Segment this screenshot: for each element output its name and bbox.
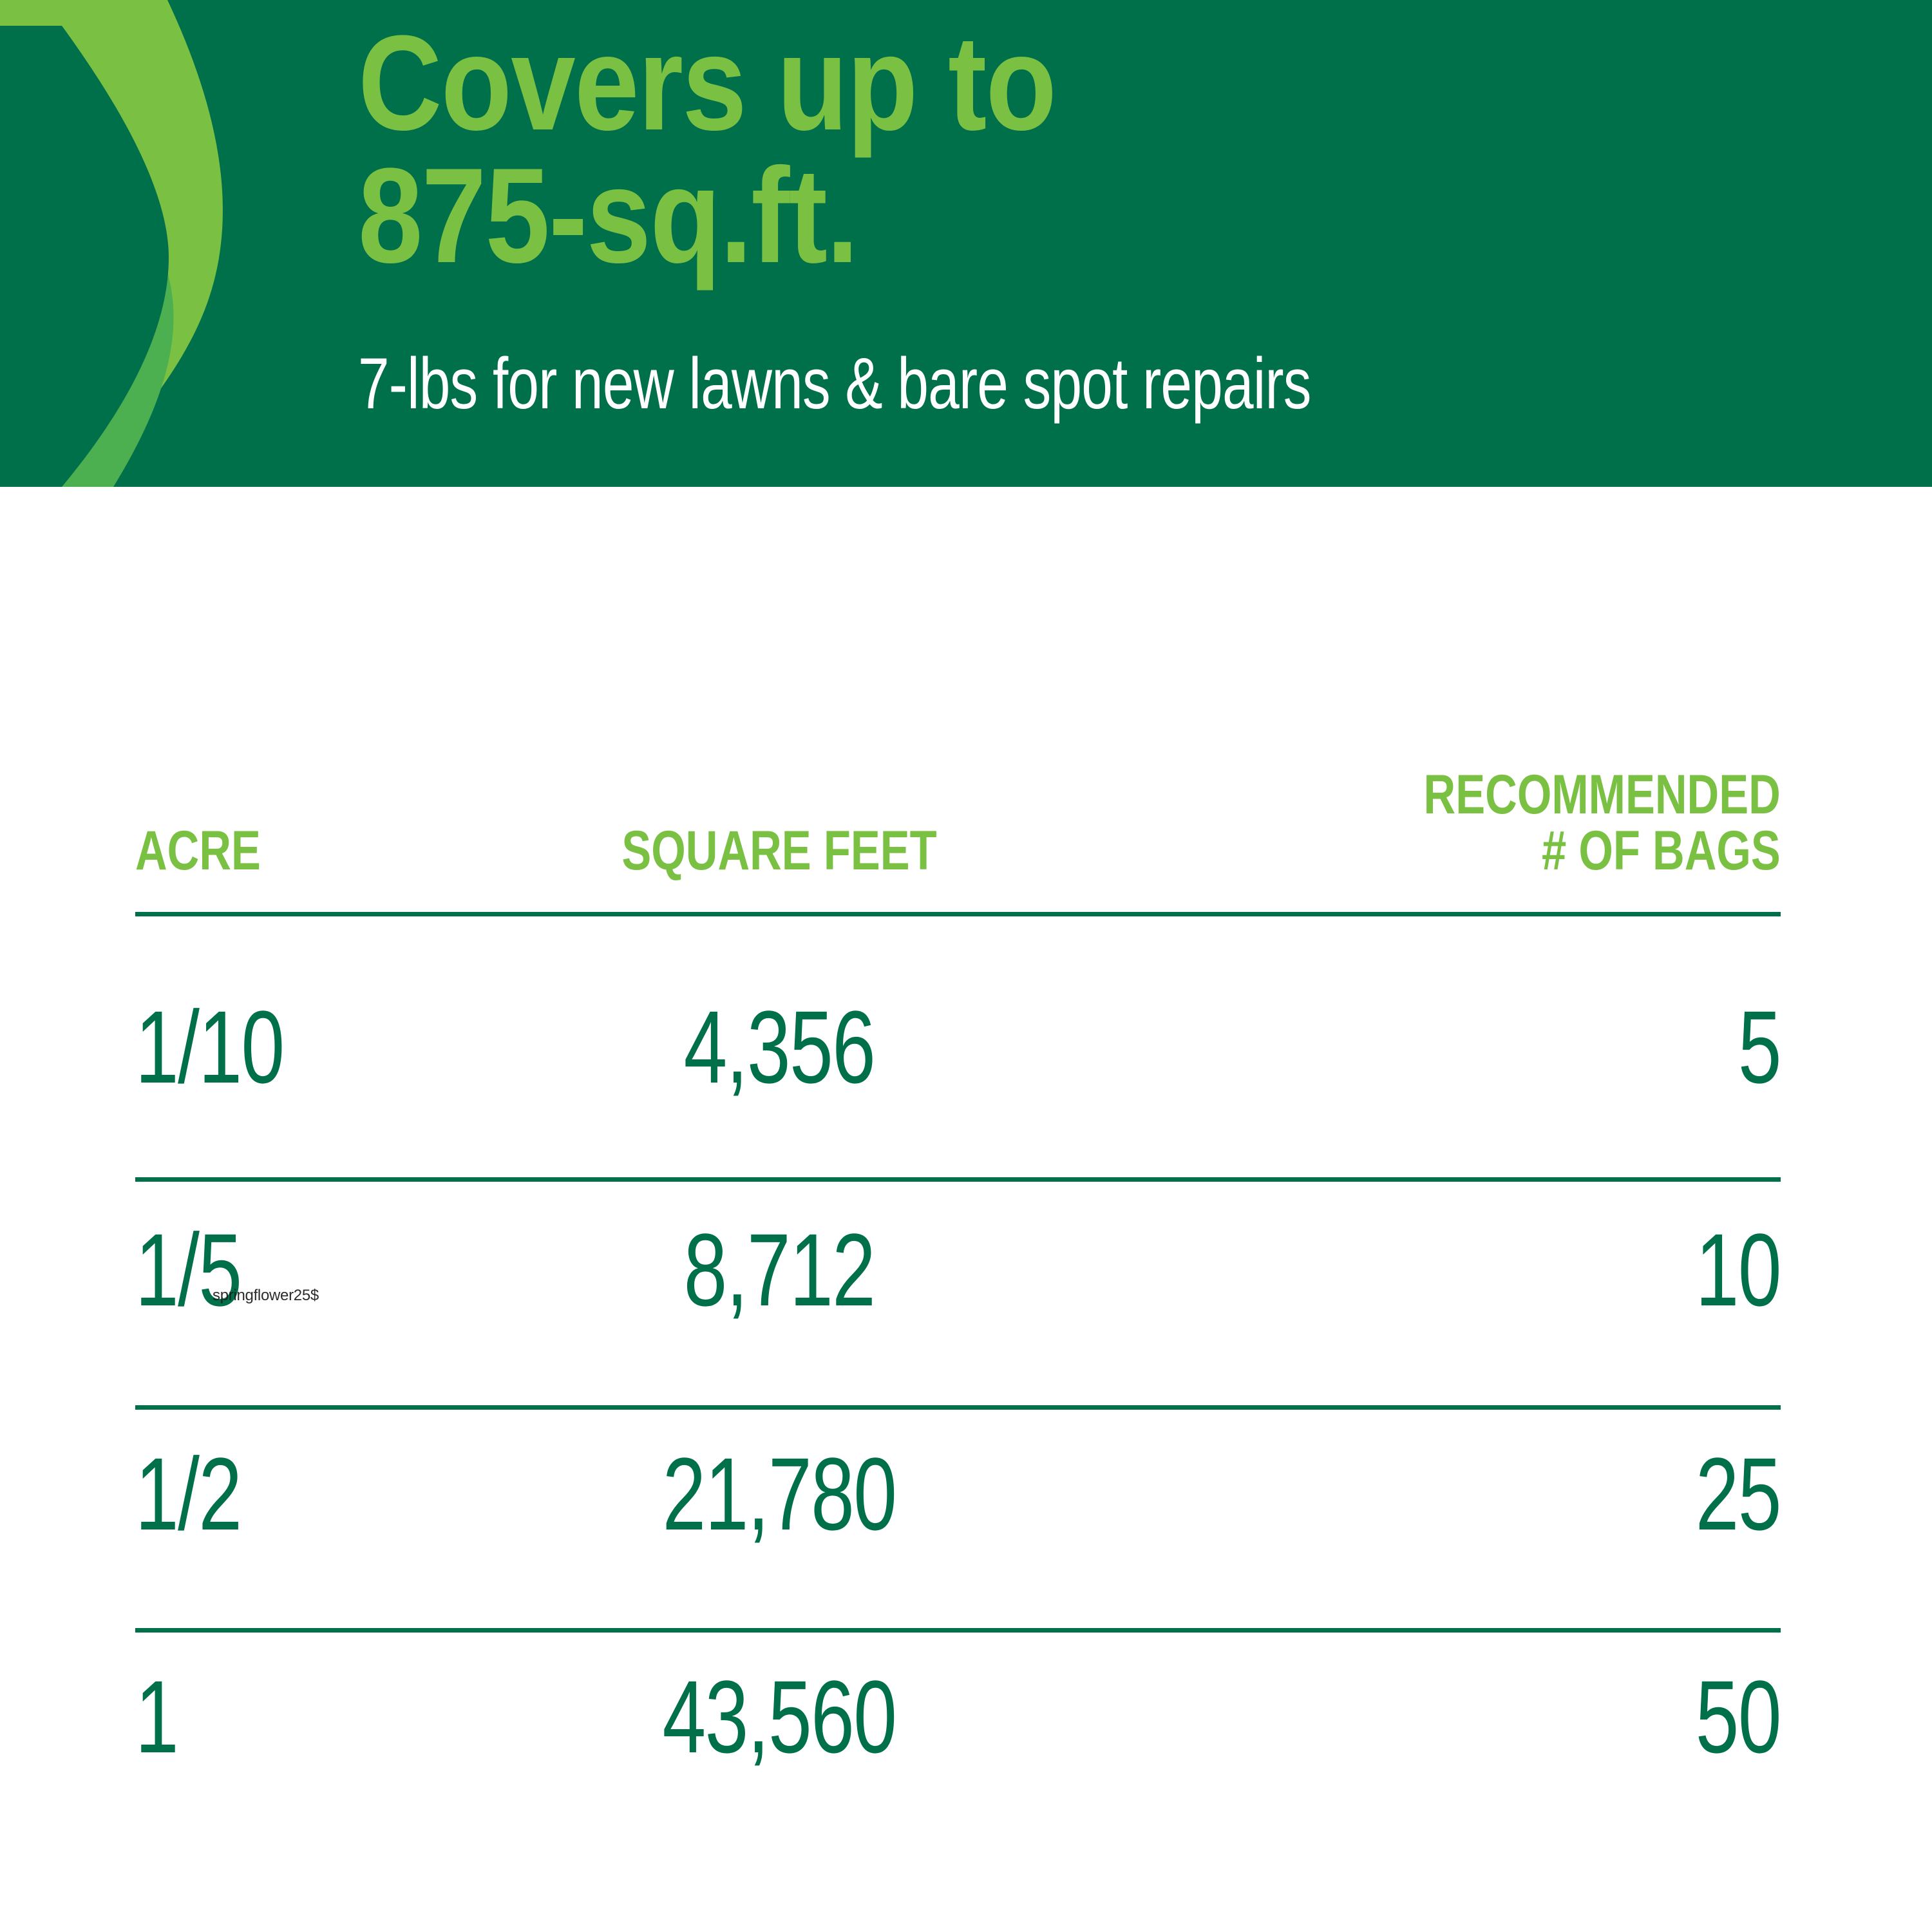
cell-bags: 10 — [1696, 1218, 1781, 1321]
column-header-square-feet: SQUARE FEET — [264, 823, 1294, 880]
cell-acre: 1/10 — [135, 996, 284, 1099]
table-divider — [135, 912, 1781, 916]
cell-square-feet: 4,356 — [290, 996, 1269, 1099]
cell-bags: 50 — [1696, 1665, 1781, 1768]
cell-bags: 5 — [1738, 996, 1781, 1099]
cell-acre: 1 — [135, 1665, 178, 1768]
header-banner: Covers up to 875-sq.ft. 7-lbs for new la… — [0, 0, 1932, 487]
cell-acre: 1/5 — [135, 1218, 241, 1321]
page-subtitle: 7-lbs for new lawns & bare spot repairs — [358, 348, 1311, 420]
page-title: Covers up to 875-sq.ft. — [358, 17, 1056, 282]
cell-square-feet: 8,712 — [290, 1218, 1269, 1321]
table-row: 1/10 4,356 5 — [135, 996, 1781, 1124]
table-divider — [135, 1177, 1781, 1182]
banner-text-block: Covers up to 875-sq.ft. 7-lbs for new la… — [358, 0, 1904, 487]
cell-acre: 1/2 — [135, 1443, 241, 1546]
cell-square-feet: 43,560 — [290, 1665, 1269, 1768]
table-divider — [135, 1628, 1781, 1633]
table-header-row: ACRE SQUARE FEET RECOMMENDED # OF BAGS — [135, 687, 1781, 880]
table-divider — [135, 1405, 1781, 1410]
table-row: 1/5 8,712 10 — [135, 1218, 1781, 1347]
column-header-acre: ACRE — [135, 823, 261, 880]
column-header-bags: RECOMMENDED # OF BAGS — [1424, 767, 1781, 880]
coverage-table: ACRE SQUARE FEET RECOMMENDED # OF BAGS 1… — [0, 487, 1932, 1932]
cell-square-feet: 21,780 — [290, 1443, 1269, 1546]
table-row: 1 43,560 50 — [135, 1665, 1781, 1794]
watermark-text: springflower25$ — [213, 1287, 319, 1305]
table-row: 1/2 21,780 25 — [135, 1443, 1781, 1571]
cell-bags: 25 — [1696, 1443, 1781, 1546]
